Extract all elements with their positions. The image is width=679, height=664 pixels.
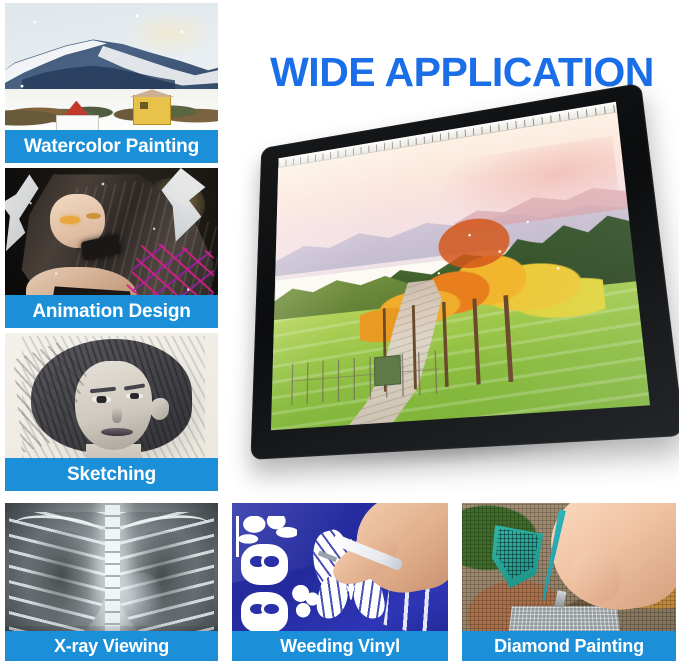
application-tile-diamond-painting: Diamond Painting	[462, 503, 676, 661]
application-tile-xray-viewing: X-ray Viewing	[5, 503, 218, 661]
application-tile-watercolor-painting: Watercolor Painting	[5, 3, 218, 163]
owl-eye-right	[261, 553, 281, 570]
tile-caption: Watercolor Painting	[5, 130, 218, 163]
portrait-eye-left	[92, 396, 111, 402]
application-tile-weeding-vinyl: Weeding Vinyl	[232, 503, 448, 661]
application-tile-animation-design: Animation Design	[5, 168, 218, 328]
light-pad-perspective-wrapper	[213, 70, 679, 520]
tile-caption: Weeding Vinyl	[232, 631, 448, 661]
light-pad-bezel	[250, 83, 679, 460]
tile-caption: Sketching	[5, 458, 218, 491]
tile-caption: Animation Design	[5, 295, 218, 328]
portrait-face	[75, 361, 152, 449]
owl-lower-body	[241, 592, 289, 633]
owl-decal	[241, 544, 289, 632]
owl2-eye-right	[261, 601, 281, 618]
tile-caption: Diamond Painting	[462, 631, 676, 661]
owl-upper-body	[241, 544, 289, 585]
portrait-mouth	[101, 428, 133, 436]
portrait-nose	[112, 407, 123, 423]
lung-field-left	[26, 531, 96, 629]
portrait-eye-right	[126, 393, 143, 399]
led-light-pad-product	[228, 86, 679, 504]
tile-caption: X-ray Viewing	[5, 631, 218, 661]
portrait-ear	[150, 398, 169, 420]
marketing-image: WIDE APPLICATION Watercolor Painting	[0, 0, 679, 664]
light-pad-panel	[271, 102, 650, 431]
application-tile-sketching: Sketching	[5, 333, 218, 491]
